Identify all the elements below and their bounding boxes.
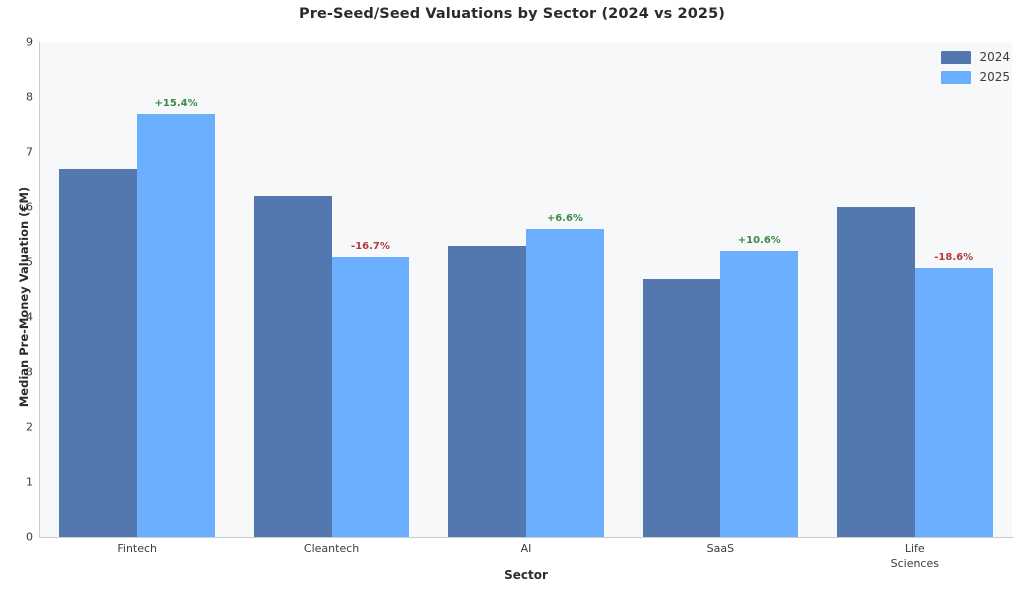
legend-item-2025[interactable]: 2025 <box>941 70 1010 84</box>
bar-2025-cleantech[interactable] <box>332 257 410 538</box>
bar-2024-fintech[interactable] <box>59 169 137 538</box>
legend-swatch-icon <box>941 51 971 64</box>
bar-change-label: -16.7% <box>351 241 390 252</box>
legend-swatch-icon <box>941 71 971 84</box>
bar-change-label: +10.6% <box>738 235 781 246</box>
y-axis-tick-label: 0 <box>6 531 33 544</box>
bar-change-label: +15.4% <box>155 98 198 109</box>
y-axis-title: Median Pre-Money Valuation (€M) <box>17 167 31 427</box>
bar-2024-saas[interactable] <box>643 279 721 538</box>
legend-label: 2024 <box>979 50 1010 64</box>
y-axis-tick-label: 9 <box>6 36 33 49</box>
x-axis-tick-label: AI <box>521 541 532 556</box>
legend-label: 2025 <box>979 70 1010 84</box>
chart-legend: 20242025 <box>941 50 1010 84</box>
bar-2025-life-sciences[interactable] <box>915 268 993 538</box>
legend-item-2024[interactable]: 2024 <box>941 50 1010 64</box>
chart-figure: Pre-Seed/Seed Valuations by Sector (2024… <box>0 0 1024 593</box>
y-axis-tick-label: 7 <box>6 146 33 159</box>
x-axis-tick-label: SaaS <box>707 541 734 556</box>
x-axis-tick-label: Cleantech <box>304 541 359 556</box>
bar-2024-ai[interactable] <box>448 246 526 538</box>
y-axis-tick-label: 1 <box>6 476 33 489</box>
x-axis-title: Sector <box>40 568 1012 582</box>
bar-change-label: -18.6% <box>934 252 973 263</box>
bar-2025-saas[interactable] <box>720 251 798 537</box>
bar-2025-ai[interactable] <box>526 229 604 537</box>
y-axis-tick-label: 8 <box>6 91 33 104</box>
bar-change-label: +6.6% <box>547 213 583 224</box>
bar-2024-life-sciences[interactable] <box>837 207 915 537</box>
bar-2025-fintech[interactable] <box>137 114 215 538</box>
x-axis-tick-label: Fintech <box>117 541 157 556</box>
bar-2024-cleantech[interactable] <box>254 196 332 537</box>
x-axis-tick-label: Life Sciences <box>891 541 939 571</box>
